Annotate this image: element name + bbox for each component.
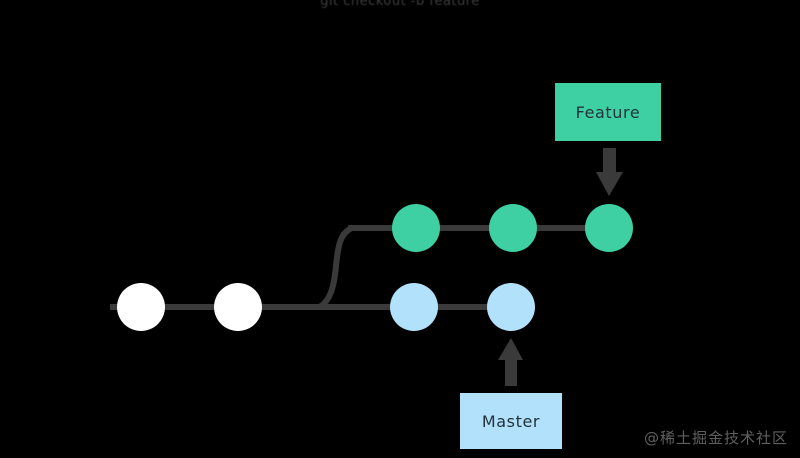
master-branch-label: Master (482, 412, 540, 431)
commit-node-m1[interactable] (117, 283, 165, 331)
commit-node-m4[interactable] (487, 283, 535, 331)
master-branch-label-box[interactable]: Master (460, 393, 562, 449)
commit-node-f2[interactable] (489, 204, 537, 252)
feature-branch-label-box[interactable]: Feature (555, 83, 661, 141)
commit-node-m2[interactable] (214, 283, 262, 331)
feature-branch-label: Feature (576, 103, 641, 122)
master-branch-pointer-arrow (498, 338, 523, 386)
feature-branch-pointer-arrow (596, 148, 623, 196)
watermark-text: @稀土掘金技术社区 (644, 427, 788, 448)
diagram-canvas: git checkout -b feature Feature Master (0, 0, 800, 458)
commit-node-f1[interactable] (392, 204, 440, 252)
git-branch-graph (0, 0, 800, 458)
commit-node-m3[interactable] (390, 283, 438, 331)
commit-node-f3[interactable] (585, 204, 633, 252)
edge-branch-curve (320, 228, 396, 307)
